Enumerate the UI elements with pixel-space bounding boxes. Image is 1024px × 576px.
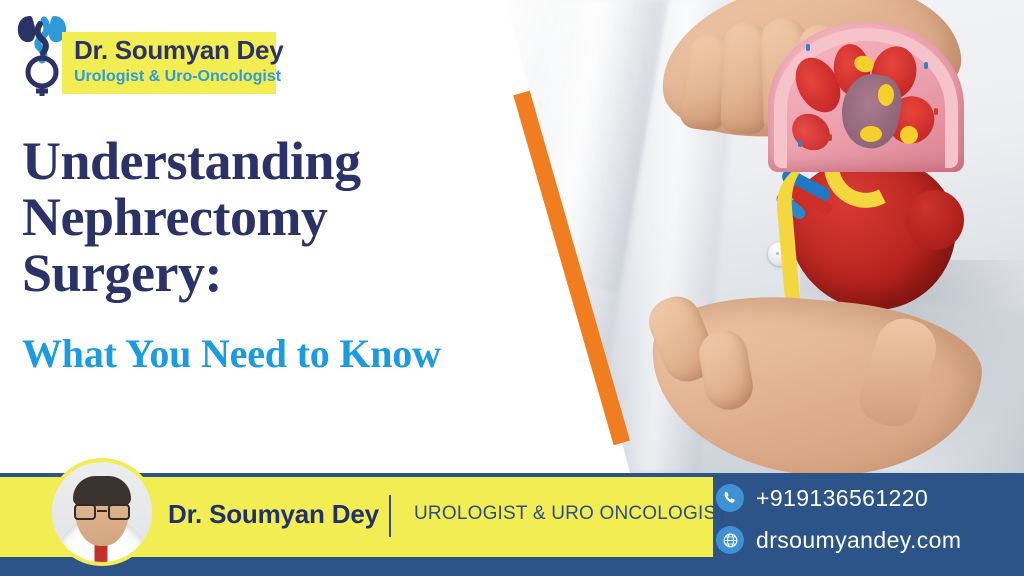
logo-text-badge: Dr. Soumyan Dey Urologist & Uro-Oncologi… bbox=[62, 32, 276, 94]
globe-icon bbox=[716, 526, 744, 554]
kidney-cross-section bbox=[768, 22, 964, 172]
promo-banner: Dr. Soumyan Dey Urologist & Uro-Oncologi… bbox=[0, 0, 1024, 576]
glasses-lens bbox=[74, 504, 96, 520]
footer-role: UROLOGIST & URO ONCOLOGIST bbox=[414, 503, 728, 525]
renal-fat bbox=[878, 84, 894, 106]
kidney-bump bbox=[906, 190, 964, 250]
vessel-speck bbox=[934, 108, 938, 115]
kidney-model-icon bbox=[758, 22, 970, 322]
headline-line-2: Nephrectomy bbox=[22, 189, 502, 245]
vessel-speck bbox=[924, 62, 928, 69]
vessel-speck bbox=[798, 140, 802, 147]
vessel-speck bbox=[806, 44, 810, 51]
avatar-hair bbox=[73, 476, 131, 506]
glasses-icon bbox=[74, 504, 130, 520]
contact-block: +919136561220 drsoumyandey.com bbox=[716, 479, 1016, 563]
renal-fat bbox=[860, 126, 882, 142]
contact-phone-row[interactable]: +919136561220 bbox=[716, 479, 1016, 517]
phone-number: +919136561220 bbox=[756, 485, 928, 512]
page-subtitle: What You Need to Know bbox=[22, 331, 441, 377]
glasses-bridge bbox=[97, 510, 107, 512]
headline-line-3: Surgery: bbox=[22, 245, 502, 301]
renal-fat bbox=[900, 126, 918, 144]
headline-line-1: Understanding bbox=[22, 133, 502, 189]
brand-logo[interactable]: Dr. Soumyan Dey Urologist & Uro-Oncologi… bbox=[14, 10, 274, 96]
website-url: drsoumyandey.com bbox=[756, 527, 961, 554]
footer-bar: Dr. Soumyan Dey UROLOGIST & URO ONCOLOGI… bbox=[0, 473, 1024, 576]
footer-doctor-name: Dr. Soumyan Dey bbox=[168, 499, 379, 530]
contact-website-row[interactable]: drsoumyandey.com bbox=[716, 521, 1016, 559]
vessel-speck bbox=[828, 134, 832, 141]
page-title: Understanding Nephrectomy Surgery: bbox=[22, 133, 502, 301]
logo-tagline: Urologist & Uro-Oncologist bbox=[74, 66, 281, 88]
avatar bbox=[48, 458, 156, 566]
footer-divider bbox=[389, 495, 391, 537]
logo-doctor-name: Dr. Soumyan Dey bbox=[74, 34, 283, 66]
phone-icon bbox=[716, 484, 744, 512]
glasses-lens bbox=[108, 504, 130, 520]
